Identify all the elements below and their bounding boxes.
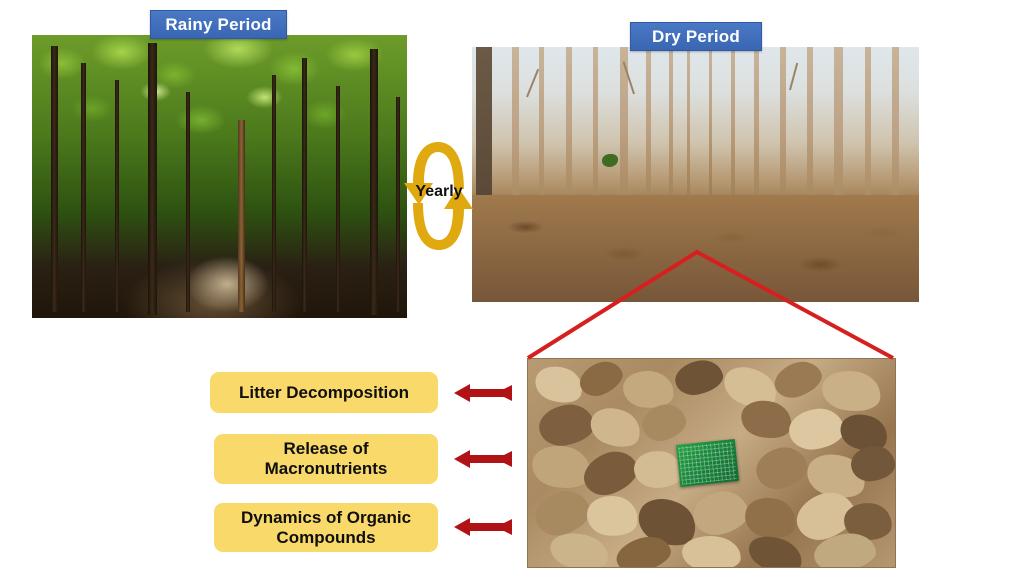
- green-litterbag: [676, 439, 739, 487]
- tree-trunk: [336, 86, 340, 312]
- process-box-text: Dynamics of Organic Compounds: [241, 508, 411, 547]
- process-arrow-left-1: [454, 382, 512, 404]
- dry-leaf: [575, 358, 628, 402]
- dry-leaf: [672, 358, 726, 399]
- rainy-period-badge: Rainy Period: [150, 10, 287, 39]
- dry-leaf: [786, 406, 845, 452]
- tree-trunk: [396, 97, 400, 312]
- leaf-litter-floor: [472, 195, 919, 302]
- tree-trunk: [115, 80, 119, 312]
- process-arrow-left-3: [454, 516, 512, 538]
- dry-leaf: [585, 401, 646, 454]
- dry-leaf: [528, 441, 594, 494]
- dry-leaf: [584, 492, 641, 539]
- yearly-cycle-label: Yearly: [402, 183, 476, 201]
- yearly-cycle-group: Yearly: [402, 133, 476, 258]
- process-box-release-of-macronutrients[interactable]: Release of Macronutrients: [214, 434, 438, 484]
- tree-trunk: [148, 43, 157, 315]
- dry-leaf: [530, 485, 595, 542]
- tree-trunk: [81, 63, 86, 312]
- process-box-text: Release of Macronutrients: [265, 439, 388, 478]
- line-2: Macronutrients: [265, 459, 388, 478]
- forest-canopy-foliage: [32, 35, 407, 318]
- process-box-litter-decomposition[interactable]: Litter Decomposition: [210, 372, 438, 413]
- tree-trunk: [238, 120, 245, 312]
- process-arrow-left-2: [454, 448, 512, 470]
- tree-trunk: [272, 75, 276, 313]
- tree-trunk: [370, 49, 378, 315]
- dry-period-badge: Dry Period: [630, 22, 762, 51]
- line-1: Dynamics of Organic: [241, 508, 411, 527]
- tree-trunk: [687, 47, 690, 215]
- green-shrub: [602, 154, 618, 167]
- dry-leaf: [536, 401, 597, 449]
- bare-branch: [526, 69, 539, 98]
- dry-leaf: [690, 487, 752, 538]
- line-2: Compounds: [276, 528, 375, 547]
- bare-branch: [789, 63, 798, 91]
- figure-canvas: Rainy Period Dry Period Yearly Litter De…: [0, 0, 1024, 576]
- dry-period-photo: [472, 47, 919, 302]
- tree-trunk: [186, 92, 190, 313]
- tree-trunk: [709, 47, 712, 210]
- dry-leaf: [752, 443, 811, 494]
- dry-leaf: [770, 358, 826, 404]
- litter-closeup-photo: [527, 358, 896, 568]
- line-1: Release of: [283, 439, 368, 458]
- rainy-period-photo: [32, 35, 407, 318]
- dry-leaf: [819, 367, 884, 416]
- tree-trunk: [51, 46, 58, 312]
- dry-leaf: [531, 361, 587, 409]
- tree-trunk: [302, 58, 307, 313]
- process-box-dynamics-of-organic-compounds[interactable]: Dynamics of Organic Compounds: [214, 503, 438, 552]
